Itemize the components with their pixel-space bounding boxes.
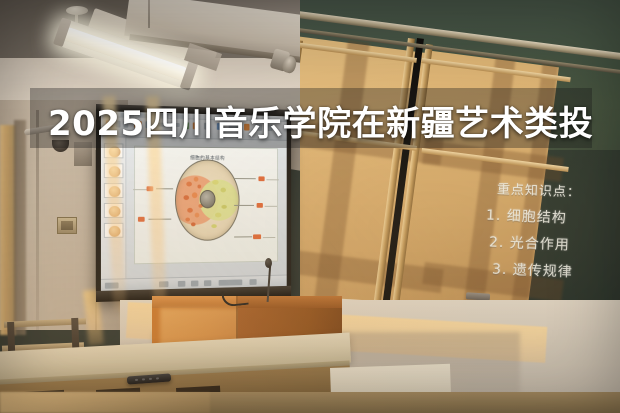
- status-view-sorter[interactable]: [191, 281, 198, 287]
- thumbnail-cell-icon: [109, 166, 121, 177]
- thumbnail-cell-icon: [109, 206, 121, 217]
- callout-line-4: [234, 205, 254, 206]
- classroom-photo: 重点知识点： 1. 细胞结构 2. 光合作用 3. 遗传规律: [0, 0, 620, 413]
- remote-button-4: [156, 377, 159, 379]
- remote-button-2: [142, 378, 145, 380]
- remote-button-3: [149, 377, 152, 379]
- thumbnail-cell-icon: [109, 186, 121, 197]
- status-slide-number: [105, 282, 119, 288]
- microphone-icon[interactable]: [265, 258, 272, 268]
- wall-socket-icon: [57, 217, 77, 234]
- callout-line-5: [234, 236, 252, 237]
- lamp-suspension-rod-secondary: [148, 0, 150, 28]
- lectern-side-panel-top: [238, 296, 342, 308]
- remote-button-1: [135, 378, 138, 380]
- lamp-ceiling-mount: [66, 6, 88, 15]
- blackboard-item-2: 2. 光合作用: [489, 231, 571, 254]
- blackboard-item-3: 3. 遗传规律: [492, 258, 574, 281]
- callout-leader-1: [133, 190, 146, 191]
- status-zoom-slider[interactable]: [219, 279, 243, 285]
- status-view-normal[interactable]: [178, 281, 185, 287]
- callout-line-1: [156, 189, 173, 190]
- blackboard: [300, 0, 620, 340]
- slide-thumbnail-5[interactable]: [104, 223, 124, 238]
- slide-thumbnail-3[interactable]: [104, 183, 124, 198]
- blackboard-heading: 重点知识点：: [497, 178, 582, 200]
- callout-tag-4: [257, 203, 263, 208]
- cell-nucleus-icon: [200, 190, 216, 208]
- callout-line-3: [234, 178, 256, 179]
- cell-diagram-icon: [175, 159, 240, 241]
- floor-sunlight: [0, 392, 210, 413]
- current-slide[interactable]: 细胞的基本结构: [134, 146, 278, 265]
- window-curtain-shadow: [14, 120, 26, 335]
- callout-leader-5: [263, 237, 275, 238]
- slide-thumbnail-4[interactable]: [104, 203, 124, 218]
- thumbnail-cell-icon: [109, 226, 121, 237]
- callout-tag-2: [138, 217, 145, 222]
- blackboard-item-1: 1. 细胞结构: [486, 204, 568, 227]
- callout-leader-3: [266, 179, 278, 180]
- caption-title: 2025四川音乐学院在新疆艺术类投: [48, 96, 588, 144]
- status-fit-button[interactable]: [249, 279, 256, 285]
- callout-tag-5: [253, 234, 261, 239]
- callout-tag-1: [147, 187, 154, 192]
- callout-leader-4: [265, 206, 277, 207]
- status-view-reading[interactable]: [204, 280, 211, 286]
- callout-line-2: [148, 219, 171, 220]
- status-notes-button[interactable]: [159, 281, 168, 287]
- slide-thumbnail-2[interactable]: [104, 163, 124, 178]
- slide-thumbnail-panel[interactable]: [101, 137, 126, 279]
- callout-tag-3: [258, 176, 264, 181]
